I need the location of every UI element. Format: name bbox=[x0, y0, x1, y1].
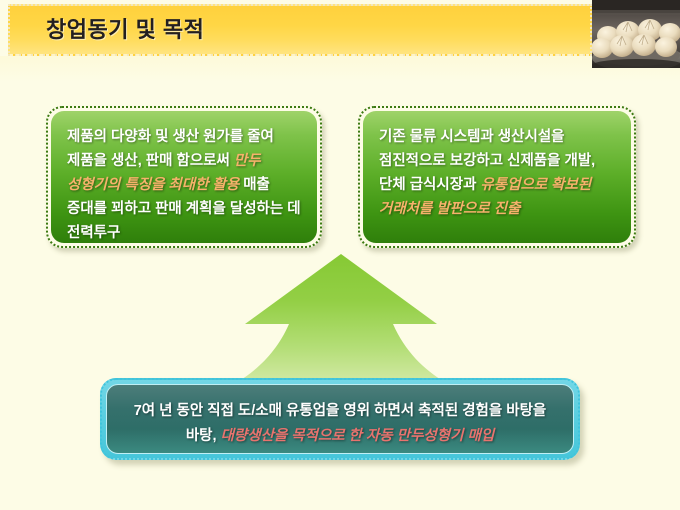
foundation-box-bottom-text: 7여 년 동안 직접 도/소매 유통업을 영위 하면서 축적된 경험을 바탕을 … bbox=[121, 399, 559, 449]
up-arrow-icon bbox=[225, 252, 457, 392]
goal-box-right-inner: 기존 물류 시스템과 생산시설을 점진적으로 보강하고 신제품을 개발, 단체 … bbox=[363, 111, 631, 243]
goal-box-left: 제품의 다양화 및 생산 원가를 줄여 제품을 생산, 판매 함으로써 만두 성… bbox=[46, 106, 322, 248]
header-fade bbox=[0, 56, 680, 82]
dumplings-photo bbox=[592, 0, 680, 68]
foundation-box-bottom: 7여 년 동안 직접 도/소매 유통업을 영위 하면서 축적된 경험을 바탕을 … bbox=[100, 378, 580, 460]
page-title: 창업동기 및 목적 bbox=[46, 12, 204, 44]
goal-box-left-inner: 제품의 다양화 및 생산 원가를 줄여 제품을 생산, 판매 함으로써 만두 성… bbox=[51, 111, 317, 243]
slide-canvas: 창업동기 및 목적 제품의 다양화 및 생산 원가를 줄여 제품을 생산, 판매… bbox=[0, 0, 680, 510]
goal-box-right: 기존 물류 시스템과 생산시설을 점진적으로 보강하고 신제품을 개발, 단체 … bbox=[358, 106, 636, 248]
bottom-seg-highlight: 대량생산을 목적으로 한 자동 만두성형기 매입 bbox=[221, 428, 495, 444]
goal-box-right-text: 기존 물류 시스템과 생산시설을 점진적으로 보강하고 신제품을 개발, 단체 … bbox=[379, 125, 615, 221]
foundation-box-bottom-inner: 7여 년 동안 직접 도/소매 유통업을 영위 하면서 축적된 경험을 바탕을 … bbox=[106, 384, 574, 454]
goal-box-left-text: 제품의 다양화 및 생산 원가를 줄여 제품을 생산, 판매 함으로써 만두 성… bbox=[67, 125, 301, 243]
